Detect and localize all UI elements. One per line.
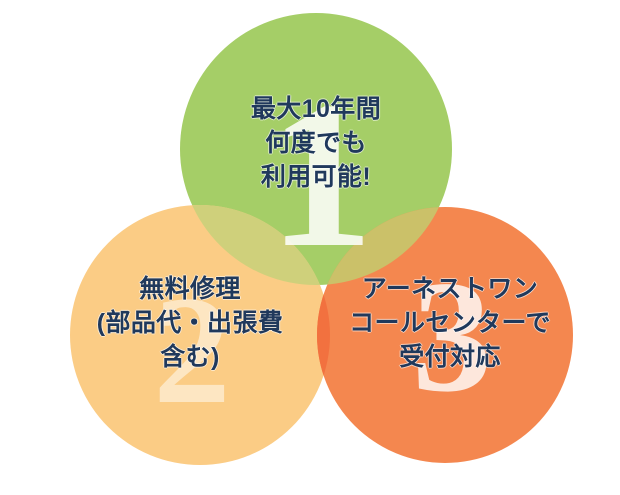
circle-2-numeral: 2 bbox=[153, 264, 231, 436]
circle-1-numeral: 1 bbox=[269, 59, 374, 291]
venn-diagram: 1 2 3 最大10年間 何度でも 利用可能! 無料修理 (部品代・出張費 含む… bbox=[0, 0, 620, 495]
venn-circles-graphic: 1 2 3 bbox=[0, 0, 620, 495]
circle-3-numeral: 3 bbox=[412, 247, 492, 425]
